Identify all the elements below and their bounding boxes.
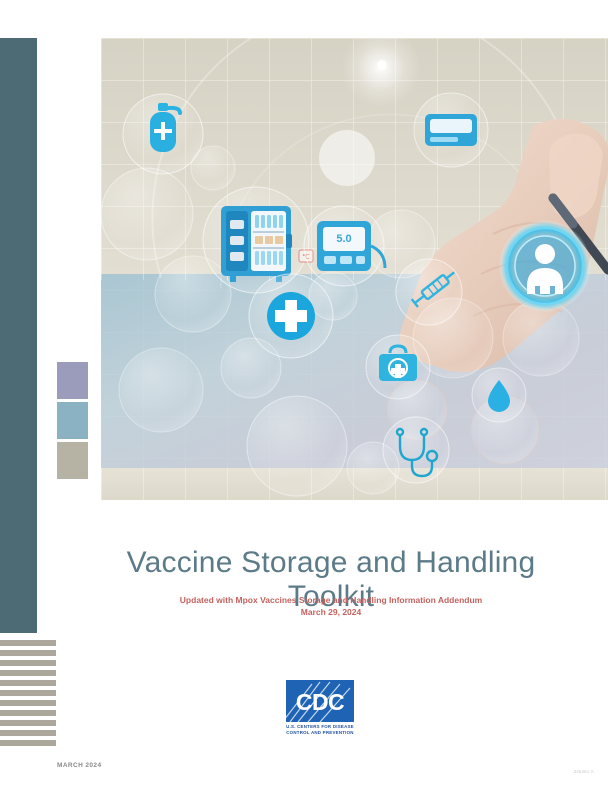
cdc-logo: CDC U.S. CENTERS FOR DISEASE CONTROL AND… [286, 680, 354, 735]
medical-cross-icon [249, 274, 333, 358]
svg-text:CDC: CDC [296, 689, 344, 715]
swatch-tan [57, 442, 88, 479]
footer-date: MARCH 2024 [57, 762, 101, 769]
first-aid-kit-icon [366, 335, 430, 399]
decorative-stripes [0, 640, 56, 752]
page-subtitle: Updated with Mpox Vaccines Storage and H… [101, 594, 561, 618]
sanitizer-bottle-icon [123, 94, 203, 174]
cdc-logo-tagline: U.S. CENTERS FOR DISEASE CONTROL AND PRE… [286, 724, 354, 735]
droplet-icon [472, 368, 526, 422]
subtitle-line-2: March 29, 2024 [101, 606, 561, 618]
cdc-logo-mark: CDC [286, 680, 354, 722]
footer-publication-code: 346361-A [574, 769, 594, 774]
svg-text:5.0: 5.0 [336, 233, 351, 245]
patient-icon [499, 220, 591, 312]
swatch-purple [57, 362, 88, 399]
data-logger-icon [414, 93, 488, 167]
color-swatch-group [57, 362, 88, 482]
syringe-icon [396, 259, 462, 325]
cdc-tagline-line-2: CONTROL AND PREVENTION [286, 730, 354, 736]
left-accent-bar [0, 38, 37, 633]
cdc-tagline-line-1: U.S. CENTERS FOR DISEASE [286, 724, 354, 730]
temperature-monitor-icon: 5.0 [304, 206, 385, 286]
swatch-blue [57, 402, 88, 439]
cover-page: ℃ 5.0 [0, 0, 608, 786]
hero-image: ℃ 5.0 [101, 38, 608, 500]
subtitle-line-1: Updated with Mpox Vaccines Storage and H… [101, 594, 561, 606]
stethoscope-icon [383, 417, 449, 483]
